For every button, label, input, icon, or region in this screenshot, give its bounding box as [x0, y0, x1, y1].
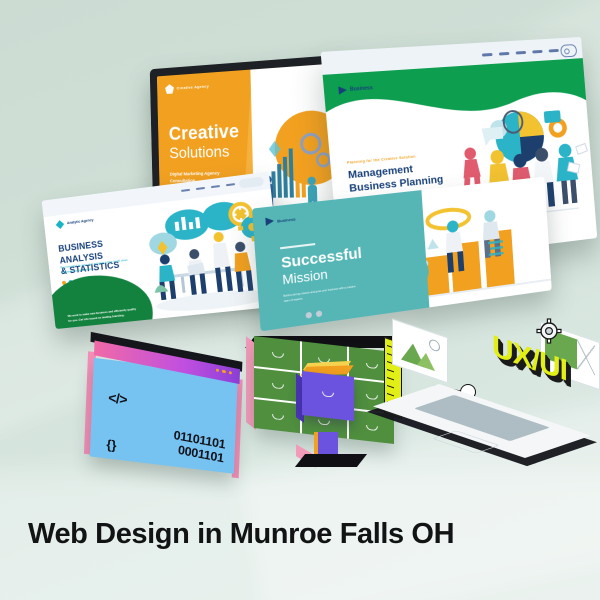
mission-logo-text: Business — [277, 216, 296, 223]
code-tag-icon: </> — [108, 389, 127, 407]
drawer-handle[interactable] — [366, 425, 378, 431]
creative-heading-line2: Solutions — [169, 144, 230, 164]
mockup-code-window: </> {} 01101101 0001101 — [84, 343, 247, 480]
mockup-business-analysis-statistics: Analytic Agency BUSINESS ANALYSIS & STAT… — [42, 172, 285, 329]
nav-links[interactable] — [482, 49, 559, 56]
logo-mark-icon — [165, 84, 174, 94]
search-icon[interactable] — [560, 44, 577, 58]
search-icon[interactable] — [239, 176, 264, 188]
page-title: Web Design in Munroe Falls OH — [28, 518, 454, 551]
drawer-handle[interactable] — [272, 383, 284, 389]
management-logo-text: Business — [350, 85, 373, 93]
drawer-handle[interactable] — [318, 419, 330, 425]
hero-banner: Creative Agency Creative Solutions Digit… — [0, 0, 600, 600]
drawer-handle[interactable] — [272, 414, 284, 420]
nav-links[interactable] — [181, 183, 235, 192]
gear-icon — [536, 318, 562, 344]
creative-logo-text: Creative Agency — [177, 84, 209, 90]
arrow-logo-icon — [265, 217, 274, 226]
business-analysis-logo: Analytic Agency — [55, 216, 94, 229]
business-analysis-card: Analytic Agency BUSINESS ANALYSIS & STAT… — [42, 172, 285, 329]
arrow-logo-icon — [338, 86, 347, 95]
logo-mark-icon — [55, 220, 64, 230]
drawer-handle[interactable] — [366, 363, 378, 369]
binary-text: 01101101 0001101 — [171, 428, 226, 466]
window-controls[interactable] — [216, 368, 232, 375]
folder-handle — [322, 391, 334, 397]
business-analysis-logo-text: Analytic Agency — [67, 218, 94, 225]
creative-heading-line1: Creative — [169, 122, 240, 144]
code-brace-icon: {} — [106, 437, 117, 453]
folder[interactable] — [302, 371, 354, 421]
stand-base — [295, 454, 367, 467]
drawer-handle[interactable] — [366, 394, 378, 400]
drawer-handle[interactable] — [272, 352, 284, 358]
mockup-uxui-laptop: UX/UI — [388, 312, 588, 482]
